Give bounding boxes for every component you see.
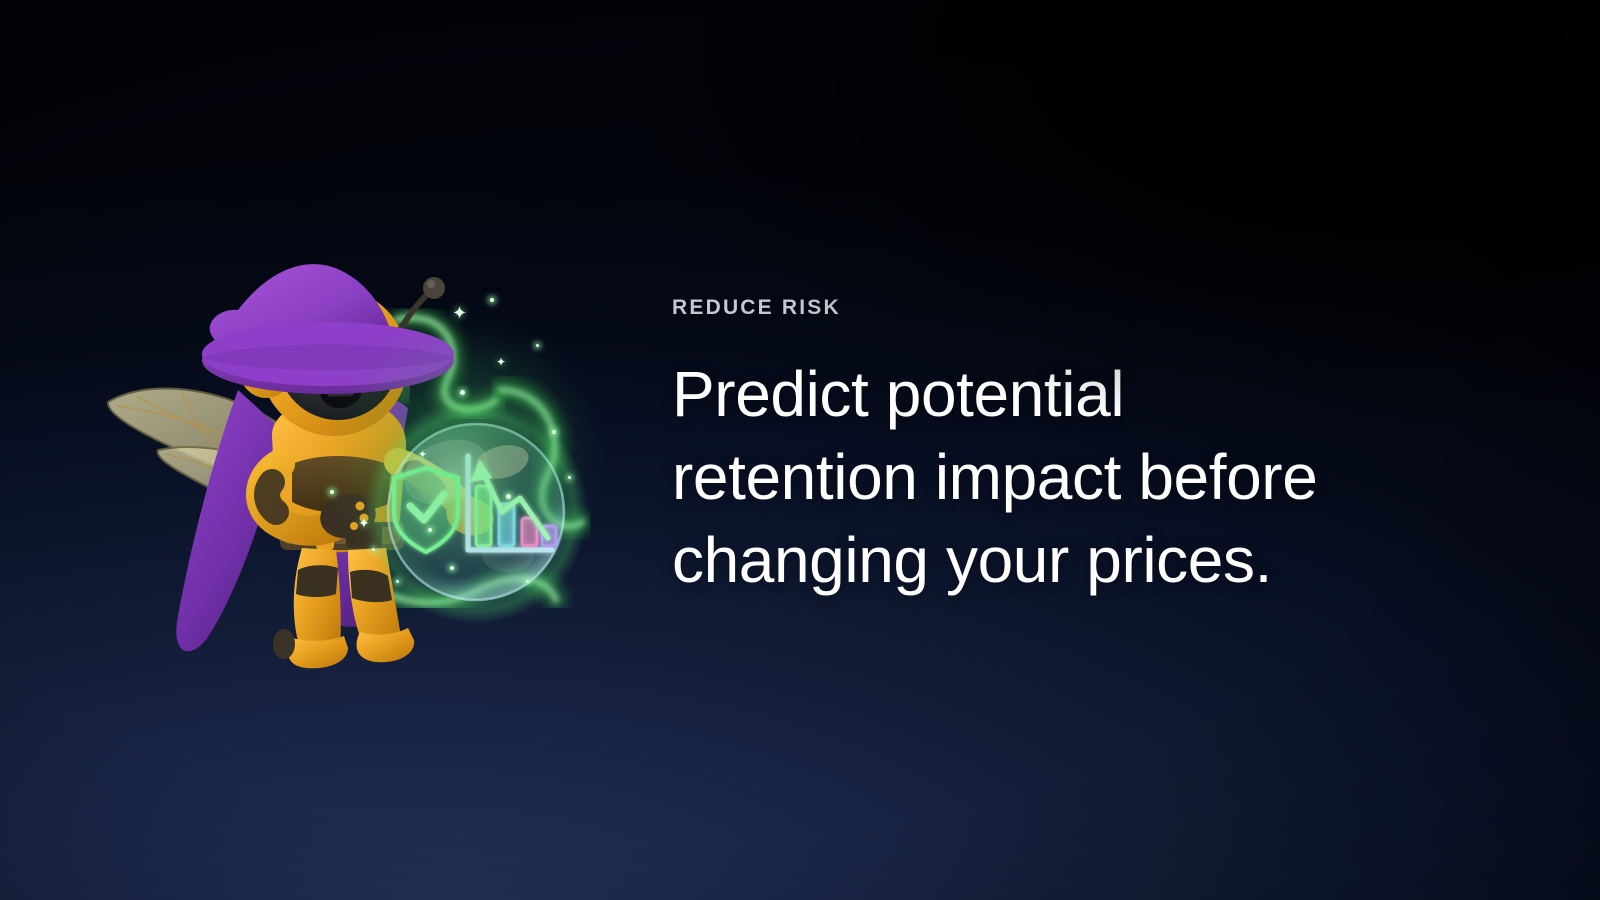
hero-banner: ✦ ✦ ✦ ✦ REDUCE RISK Predict potential re… xyxy=(0,0,1600,900)
headline-line-3: changing your prices. xyxy=(672,519,1432,602)
headline-line-2: retention impact before xyxy=(672,436,1432,519)
crystal-orb xyxy=(364,400,588,624)
mascot-illustration xyxy=(96,250,616,680)
headline-line-1: Predict potential xyxy=(672,353,1432,436)
page-title: Predict potential retention impact befor… xyxy=(672,353,1432,602)
hero-copy: REDUCE RISK Predict potential retention … xyxy=(672,296,1432,602)
witch-hat xyxy=(202,264,454,394)
eyebrow-label: REDUCE RISK xyxy=(672,296,1432,319)
